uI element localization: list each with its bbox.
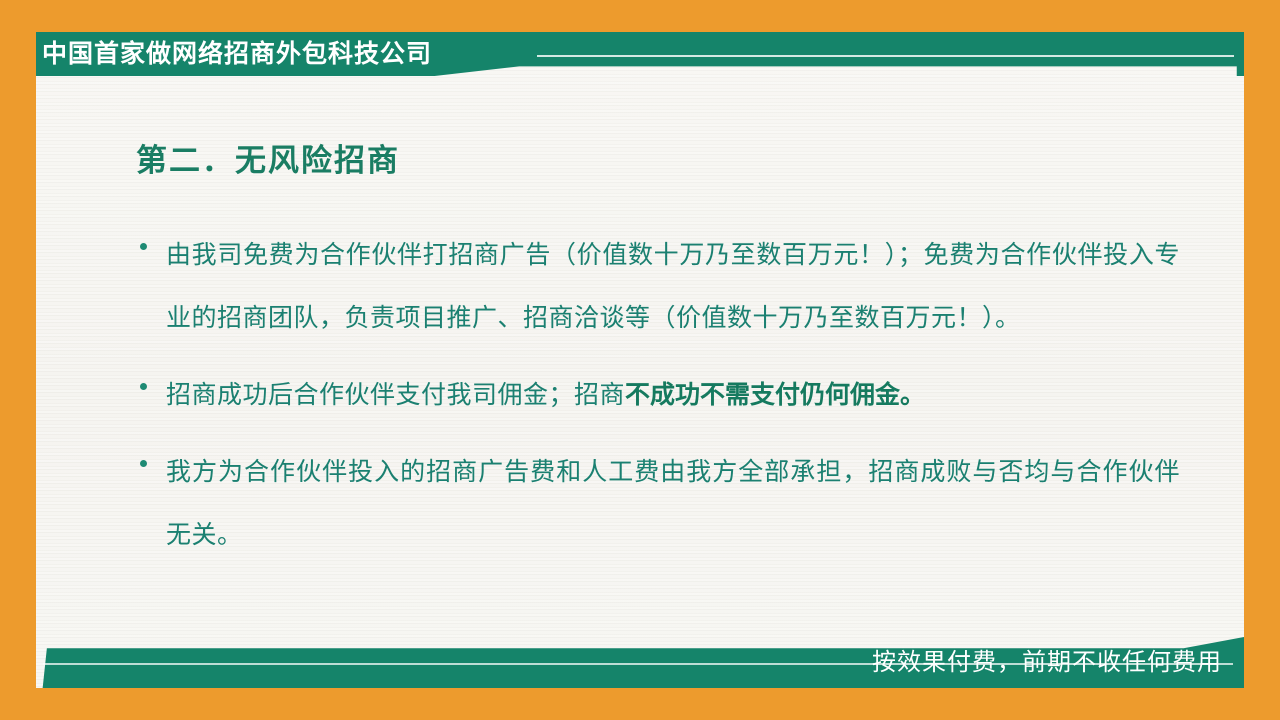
bullet-plain-text: 招商成功后合作伙伴支付我司佣金；招商 [166,382,625,409]
bullet-text: 招商成功后合作伙伴支付我司佣金；招商不成功不需支付仍何佣金。 [166,364,1180,427]
bullet-item: 由我司免费为合作伙伴打招商广告（价值数十万乃至数百万元！）；免费为合作伙伴投入专… [140,224,1180,350]
bullet-plain-text: 由我司免费为合作伙伴打招商广告（价值数十万乃至数百万元！）；免费为合作伙伴投入专… [166,242,1180,332]
bullet-plain-text: 我方为合作伙伴投入的招商广告费和人工费由我方全部承担，招商成败与否均与合作伙伴无… [166,459,1180,549]
bullet-dot-icon [140,364,166,390]
bullet-item: 招商成功后合作伙伴支付我司佣金；招商不成功不需支付仍何佣金。 [140,364,1180,427]
company-tagline: 中国首家做网络招商外包科技公司 [42,36,432,72]
bullet-text: 我方为合作伙伴投入的招商广告费和人工费由我方全部承担，招商成败与否均与合作伙伴无… [166,441,1180,567]
bullet-text: 由我司免费为合作伙伴打招商广告（价值数十万乃至数百万元！）；免费为合作伙伴投入专… [166,224,1180,350]
bullet-emphasis-text: 不成功不需支付仍何佣金。 [625,381,925,409]
bullet-dot-icon [140,441,166,467]
header-hairline-divider [537,55,1234,57]
bullet-dot-icon [140,224,166,250]
presentation-slide: 中国首家做网络招商外包科技公司 第二．无风险招商 由我司免费为合作伙伴打招商广告… [0,0,1280,720]
bullet-item: 我方为合作伙伴投入的招商广告费和人工费由我方全部承担，招商成败与否均与合作伙伴无… [140,441,1180,567]
footer-slogan: 按效果付费，前期不收任何费用 [872,646,1222,680]
bullet-list: 由我司免费为合作伙伴打招商广告（价值数十万乃至数百万元！）；免费为合作伙伴投入专… [140,224,1180,581]
slide-title: 第二．无风险招商 [136,135,400,180]
